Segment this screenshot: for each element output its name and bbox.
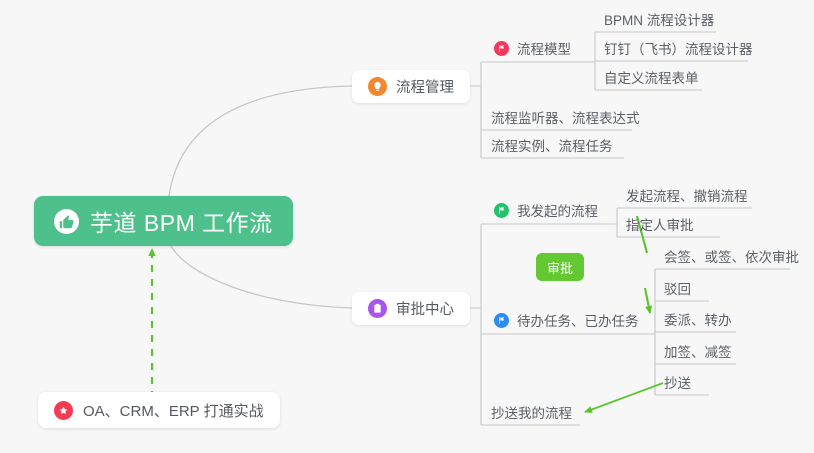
- branch-label-process-management: 流程管理: [396, 76, 454, 97]
- leaf-label-custom-process-form: 自定义流程表单: [604, 67, 699, 90]
- sub-label-process-model: 流程模型: [517, 38, 571, 58]
- sub-node-process-instance-task[interactable]: 流程实例、流程任务: [487, 133, 613, 158]
- clipboard-icon: [368, 299, 387, 318]
- branch-node-approval-center[interactable]: 审批中心: [352, 292, 470, 325]
- flag-red-icon: [494, 41, 509, 56]
- arrow-approval-bottom: [645, 288, 650, 313]
- sub-label-todo-done-tasks: 待办任务、已办任务: [517, 310, 639, 330]
- root-label: 芋道 BPM 工作流: [90, 204, 273, 238]
- leaf-node-assignee-approval[interactable]: 指定人审批: [622, 212, 694, 237]
- sub-node-cc-to-me-process[interactable]: 抄送我的流程: [487, 400, 572, 425]
- leaf-label-assignee-approval: 指定人审批: [626, 214, 694, 237]
- sub-label-process-instance-task: 流程实例、流程任务: [491, 135, 613, 158]
- root-node[interactable]: 芋道 BPM 工作流: [34, 196, 293, 246]
- leaf-label-cc: 抄送: [664, 372, 691, 395]
- aux-node-label: OA、CRM、ERP 打通实战: [83, 400, 264, 421]
- leaf-node-custom-process-form[interactable]: 自定义流程表单: [600, 65, 699, 90]
- thumbs-up-icon: [54, 209, 79, 234]
- wire-root-to-approval-center: [168, 238, 352, 308]
- sub-node-todo-done-tasks[interactable]: 待办任务、已办任务: [492, 308, 643, 334]
- sub-label-cc-to-me-process: 抄送我的流程: [491, 402, 572, 425]
- flag-green-icon: [494, 203, 509, 218]
- leaf-node-start-cancel-process[interactable]: 发起流程、撤销流程: [622, 183, 748, 208]
- leaf-node-reject[interactable]: 驳回: [660, 276, 691, 301]
- mindmap-canvas: 芋道 BPM 工作流 流程管理 流程模型 BPMN 流程设计器 钉钉（飞书）流程…: [0, 0, 814, 453]
- leaf-node-countersign-or-sequential[interactable]: 会签、或签、依次审批: [660, 244, 799, 269]
- leaf-label-delegate-transfer: 委派、转办: [664, 309, 732, 332]
- leaf-node-bpmn-designer[interactable]: BPMN 流程设计器: [600, 7, 714, 32]
- leaf-node-dingtalk-feishu-designer[interactable]: 钉钉（飞书）流程设计器: [600, 36, 753, 61]
- leaf-node-cc[interactable]: 抄送: [660, 370, 691, 395]
- flag-blue-icon: [494, 313, 509, 328]
- branch-label-approval-center: 审批中心: [396, 298, 454, 319]
- leaf-node-add-remove-sign[interactable]: 加签、减签: [660, 339, 732, 364]
- sub-label-my-initiated-process: 我发起的流程: [517, 200, 598, 220]
- annotation-chip-approval[interactable]: 审批: [536, 253, 584, 281]
- leaf-label-dingtalk-feishu-designer: 钉钉（飞书）流程设计器: [604, 38, 753, 61]
- sub-node-process-listener-expression[interactable]: 流程监听器、流程表达式: [487, 105, 640, 130]
- lightbulb-icon: [368, 77, 387, 96]
- branch-node-process-management[interactable]: 流程管理: [352, 70, 470, 103]
- leaf-label-countersign-or-sequential: 会签、或签、依次审批: [664, 246, 799, 269]
- aux-node-integration[interactable]: OA、CRM、ERP 打通实战: [38, 392, 280, 428]
- leaf-label-bpmn-designer: BPMN 流程设计器: [604, 9, 714, 32]
- leaf-label-start-cancel-process: 发起流程、撤销流程: [626, 185, 748, 208]
- arrow-cc-to-ccme: [585, 383, 663, 412]
- sub-label-process-listener-expression: 流程监听器、流程表达式: [491, 107, 640, 130]
- wire-root-to-process-management: [168, 86, 352, 205]
- leaf-node-delegate-transfer[interactable]: 委派、转办: [660, 307, 732, 332]
- annotation-chip-label: 审批: [547, 258, 573, 277]
- sub-node-my-initiated-process[interactable]: 我发起的流程: [492, 198, 602, 224]
- leaf-label-add-remove-sign: 加签、减签: [664, 341, 732, 364]
- leaf-label-reject: 驳回: [664, 278, 691, 301]
- star-icon: [54, 401, 73, 420]
- sub-node-process-model[interactable]: 流程模型: [492, 36, 575, 62]
